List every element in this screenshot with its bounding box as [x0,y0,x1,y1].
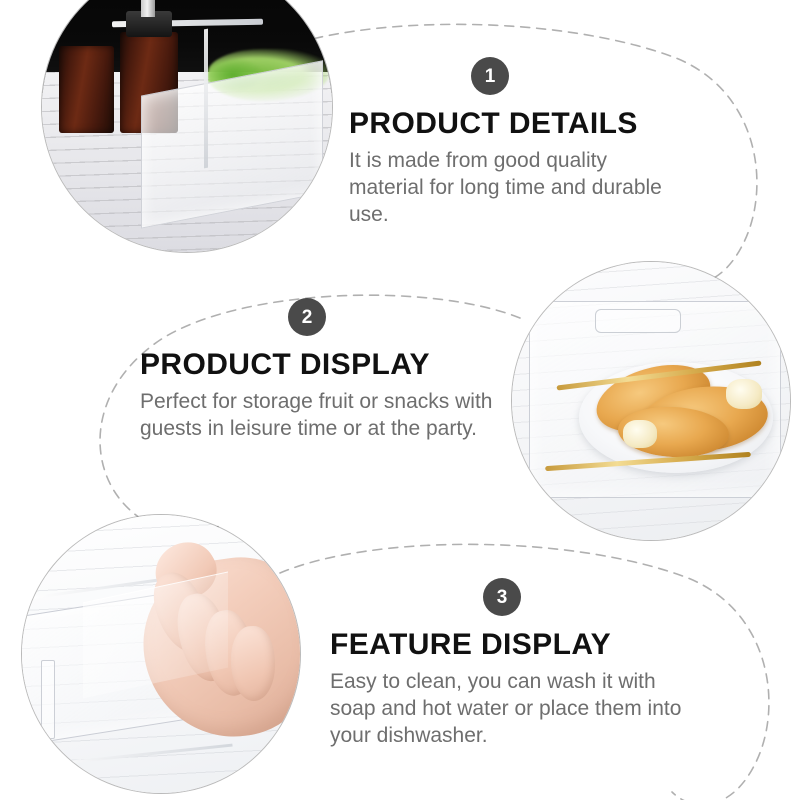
section-2-body: Perfect for storage fruit or snacks with… [140,388,500,443]
section-3: 3 FEATURE DISPLAY Easy to clean, you can… [330,578,700,749]
section-1-heading: PRODUCT DETAILS [349,107,667,141]
butter-pat-left [623,420,656,448]
butter-pat-right [726,379,762,410]
acrylic-tray-divider [204,28,208,168]
section-3-heading: FEATURE DISPLAY [330,628,700,662]
section-1: 1 PRODUCT DETAILS It is made from good q… [349,57,667,228]
amber-bottle-left [59,46,114,133]
section-3-body: Easy to clean, you can wash it with soap… [330,668,700,750]
section-2: 2 PRODUCT DISPLAY Perfect for storage fr… [140,298,500,442]
dispenser-neck [141,0,156,17]
section-2-number-badge: 2 [288,298,326,336]
section-1-number-badge: 1 [471,57,509,95]
section-1-body: It is made from good quality material fo… [349,147,667,229]
tray-side-slot [41,660,54,740]
hand-holding-clear-acrylic-tray-photo [22,515,300,793]
acrylic-tray-with-soap-dispensers-photo [42,0,332,252]
pancakes-on-plate-in-tray-photo [512,262,790,540]
section-3-number-badge: 3 [483,578,521,616]
section-2-heading: PRODUCT DISPLAY [140,348,500,382]
product-infographic: 1 PRODUCT DETAILS It is made from good q… [0,0,800,800]
tray-handle-cutout [595,309,680,333]
